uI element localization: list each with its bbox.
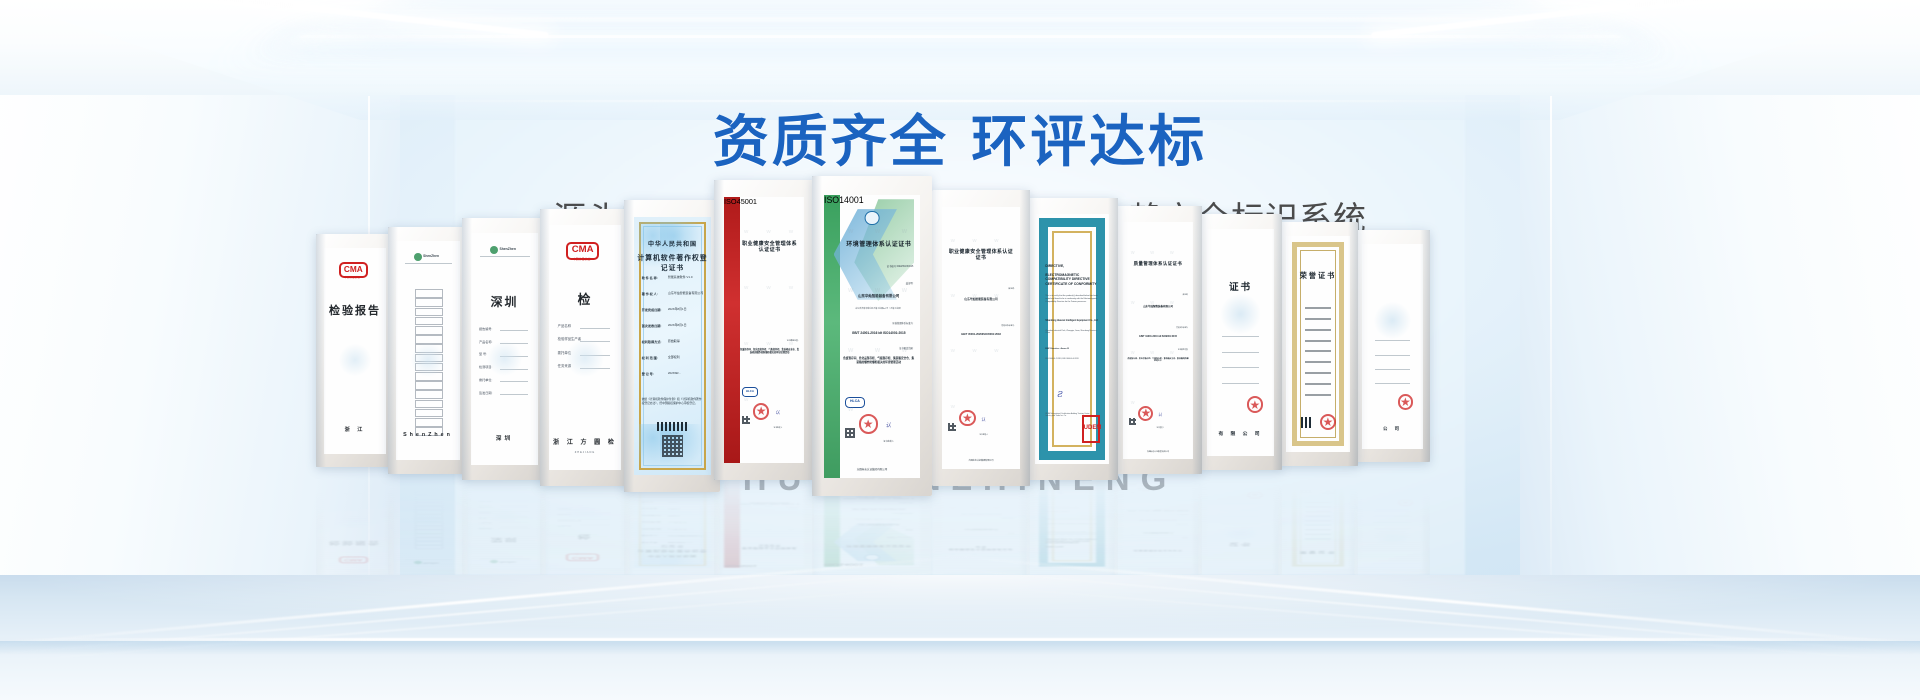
certificate-frame[interactable]: DIRECTIVE,ELECTROMAGNETIC COMPATIBILITY … — [1026, 198, 1118, 480]
official-red-stamp-icon — [753, 403, 770, 420]
company-label: 兹证明: — [906, 529, 914, 531]
software-certificate-body: 中华人民共和国计算机软件著作权登记证书软 件 名 称:智能系统软件 V1.0著 … — [634, 217, 711, 475]
frame-depth-shadow — [316, 477, 326, 575]
certificate-paper: ShenZhen深圳报告编号:产品名称:型 号:检测项目:委托单位:签发日期:深… — [471, 233, 538, 465]
standard-label: 环境管理体系标准为: — [893, 321, 914, 325]
text-line — [1305, 507, 1331, 508]
paper-watermark: W — [744, 229, 748, 234]
scope-text: 危废暂存间、危化品暂存柜、气瓶暂存柜、集装箱安全仓、集装箱的防爆柜的生产 — [1127, 358, 1189, 364]
standards-list: EN 61000-6-2:2019, EN 61000-6-4:2019 — [1045, 358, 1100, 360]
certificate-frame[interactable]: ISO45001职业健康安全管理体系认证证书证书覆盖范围:危废暂存间、危化品暂存… — [714, 180, 814, 480]
paper-watermark: W — [1131, 250, 1135, 255]
field-label: 权 利 范 围: — [642, 355, 658, 360]
paper-watermark: W — [972, 348, 976, 353]
field-label: 产品名称 — [558, 323, 571, 328]
paper-watermark: W — [902, 229, 907, 235]
issuer-logo-icon: HLCA — [742, 484, 759, 488]
company-label: 兹证明: — [1008, 287, 1014, 290]
certificate-frame[interactable]: 证书有 限 公 司 — [1198, 214, 1282, 470]
paper-watermark: W — [1131, 512, 1135, 514]
field-label: 产品名称: — [479, 339, 492, 344]
cma-badge-icon: CMA — [339, 556, 368, 563]
certificate-paper: 公 司 — [1362, 244, 1423, 449]
certificate-title-line2: 计算机软件著作权登记证书 — [634, 545, 711, 553]
company-name: 公 司 — [1362, 426, 1423, 432]
paper-watermark — [1219, 524, 1262, 542]
paper-watermark: W — [789, 341, 793, 346]
standard-label: 管理体系标准为: — [1176, 327, 1188, 329]
field-underline — [500, 381, 528, 382]
paper-watermark — [410, 342, 446, 378]
frame-depth-shadow — [1020, 190, 1030, 486]
certificate-title-line: DIRECTIVE, — [1045, 546, 1100, 548]
certificate-mat: 证书有 限 公 司 — [1207, 229, 1274, 456]
text-line — [1305, 502, 1331, 503]
certificate-frame[interactable]: 荣誉证书 — [1278, 222, 1358, 466]
company-name: 山东华灿智能装备有限公司 — [947, 528, 1016, 530]
certificate-number: 证书编号:00EMS0230915 — [887, 536, 913, 538]
certificate-paper: CMA中国计量认证检产品名称检验样品生产者委托单位任务来源浙 江 方 圆 检ZH… — [549, 225, 621, 470]
certificate-mat: 质量管理体系认证证书兹证明:山东华灿智能装备有限公司管理体系标准为:GB/T 1… — [1123, 222, 1193, 459]
issuing-organization-en: ZHEJIANG — [549, 451, 621, 454]
paper-watermark: W — [744, 482, 748, 484]
company-address: 山东省济南市章丘区刁镇工业园A-1号（刁镇工业园） — [843, 307, 914, 310]
paper-watermark: W — [875, 525, 880, 528]
scope-label: 证书覆盖范围: — [1178, 514, 1188, 515]
certificate-title-line: ELECTROMAGNETIC COMPATIBILITY DIRECTIVE — [1045, 273, 1100, 281]
field-label: 签发日期: — [479, 390, 492, 395]
certificate-body: This is to certify that the product(s) d… — [1045, 531, 1100, 535]
paper-watermark: W — [1150, 512, 1154, 514]
field-underline — [500, 394, 528, 395]
directive-name: EMC Directive : Annex III — [1045, 348, 1100, 350]
certificate-title: 深圳 — [471, 536, 538, 543]
field-underline — [1222, 352, 1260, 353]
paper-watermark: W — [994, 348, 998, 353]
paper-watermark: W — [744, 397, 748, 402]
field-label: 权 利 范 围: — [642, 508, 658, 510]
frame-depth-shadow — [714, 180, 724, 480]
certificate-frame[interactable]: ShenZhen深圳报告编号:产品名称:型 号:检测项目:委托单位:签发日期:深… — [462, 218, 546, 480]
paper-watermark: W — [848, 525, 853, 528]
paper-watermark: W — [848, 348, 853, 354]
certificate-sidebar-label: ISO45001 — [724, 564, 740, 568]
certificate-mat: CMA中国计量认证检产品名称检验样品生产者委托单位任务来源浙 江 方 圆 检ZH… — [549, 225, 621, 470]
signature-icon: 认 — [1158, 486, 1162, 489]
table-cell — [415, 491, 443, 495]
official-red-stamp-icon — [1247, 491, 1264, 498]
paper-watermark: W — [875, 348, 880, 354]
certificate-mat: DIRECTIVE,ELECTROMAGNETIC COMPATIBILITY … — [1035, 214, 1109, 464]
signature-label: 证书签发人 — [979, 434, 987, 436]
table-cell — [415, 326, 443, 335]
scope-text: 危废暂存间、危化品暂存柜、气瓶暂存柜、集装箱安全仓、集装箱的爆炸的防爆柜相关的环… — [740, 349, 799, 355]
cma-badge-icon: CMA — [566, 554, 599, 561]
standard-name: GB/T 45001-2020/ISO45001:2018 — [947, 514, 1016, 515]
certificate-mat: ShenZhen深圳报告编号:产品名称:型 号:检测项目:委托单位:签发日期:深… — [471, 471, 538, 568]
field-value: 原始取得 — [668, 515, 680, 517]
certificate-title-line: CERTIFICATE OF CONFORMITY — [1045, 538, 1100, 540]
frame-depth-shadow — [388, 471, 398, 575]
text-line — [1305, 394, 1331, 396]
table-cell — [415, 522, 443, 526]
standard-label: 管理体系标准为: — [1176, 523, 1188, 524]
certificate-frame[interactable]: CMA中国计量认证检产品名称检验样品生产者委托单位任务来源浙 江 方 圆 检ZH… — [540, 209, 630, 486]
field-value: 智能系统软件 V1.0 — [668, 275, 693, 279]
official-red-stamp-icon — [1320, 487, 1336, 494]
divider — [405, 263, 452, 264]
certificate-paper: CMA中国计量认证检验报告浙 江 — [324, 248, 386, 454]
field-label: 报告编号: — [479, 528, 492, 530]
certificate-title-line: ELECTROMAGNETIC COMPATIBILITY DIRECTIVE — [1045, 540, 1100, 543]
certificate-frame-reflection: ShenZhenShenZhen — [388, 471, 468, 575]
certificate-frame[interactable]: ISO14001环境管理体系认证证书证书编号:00EMS0230915兹证明:山… — [812, 176, 932, 496]
certificate-paper: ShenZhen深圳报告编号:产品名称:型 号:检测项目:委托单位:签发日期:深… — [471, 471, 538, 568]
paper-watermark: W — [848, 500, 853, 503]
text-line — [1305, 520, 1331, 521]
certificate-title: 环境管理体系认证证书 — [843, 544, 914, 547]
certificate-frame[interactable]: 质量管理体系认证证书兹证明:山东华灿智能装备有限公司管理体系标准为:GB/T 1… — [1114, 206, 1202, 474]
certificate-title-line: CERTIFICATE OF CONFORMITY — [1045, 282, 1100, 286]
certificate-paper: ShenZhenShenZhen — [396, 241, 460, 460]
issuing-organization: 深圳 — [471, 434, 538, 442]
certificate-paper: 荣誉证书 — [1286, 236, 1350, 452]
certificate-frame[interactable]: 中华人民共和国计算机软件著作权登记证书软 件 名 称:智能系统软件 V1.0著 … — [624, 200, 720, 492]
cma-badge-sublabel: 中国计量认证 — [563, 553, 600, 555]
paper-watermark: W — [1131, 554, 1135, 556]
certificate-body: This is to certify that the product(s) d… — [1045, 295, 1100, 303]
field-value: 山东华灿智能装备有限公司 — [668, 535, 703, 537]
signature-label: 证书签发人 — [1157, 481, 1165, 482]
paper-watermark: W — [951, 404, 955, 409]
field-underline — [580, 328, 610, 329]
udem-logo-icon: UDEM — [1082, 415, 1100, 443]
field-value: 山东华灿智能装备有限公司 — [668, 291, 703, 295]
field-label: 登 记 号: — [642, 501, 654, 503]
company-name: 有 限 公 司 — [1207, 430, 1274, 437]
paper-watermark: W — [902, 500, 907, 503]
paper-watermark: W — [1170, 533, 1174, 535]
table-cell — [415, 507, 443, 511]
company-address: Zhendian Industrial Park, Zhangqiu, Jina… — [1045, 330, 1100, 335]
paper-watermark: W — [1131, 400, 1135, 405]
table-cell — [415, 409, 443, 418]
certificate-sidebar-label: ISO45001 — [724, 197, 740, 206]
certificate-sidebar: ISO14001 — [824, 195, 840, 478]
paper-watermark — [1373, 529, 1412, 545]
paper-watermark: W — [994, 553, 998, 555]
paper-watermark: W — [1170, 350, 1174, 355]
paper-watermark: W — [766, 341, 770, 346]
field-label: 著 作 权 人: — [642, 291, 658, 296]
table-cell — [415, 518, 443, 522]
text-line — [1305, 318, 1331, 320]
org-seal-icon — [414, 253, 422, 261]
issuing-organization: 方圆标志认证集团有限公司 — [824, 467, 920, 471]
scope-label: 证书覆盖范围: — [899, 502, 913, 504]
certificate-paper: 证书有 限 公 司 — [1207, 473, 1274, 568]
certificate-mat: ShenZhenShenZhen — [396, 477, 460, 569]
certificate-title: 职业健康安全管理体系认证证书 — [947, 545, 1016, 550]
paper-watermark — [486, 508, 524, 524]
frame-depth-shadow — [1108, 198, 1118, 480]
table-cell — [415, 511, 443, 515]
floor-reflection-band — [0, 641, 1920, 655]
org-name-en: ShenZhen — [423, 254, 439, 258]
table-cell — [415, 289, 443, 298]
official-red-stamp-icon — [1398, 394, 1414, 410]
frame-bevel — [1278, 473, 1358, 575]
signature-label: 证书签发人 — [774, 427, 783, 429]
field-label: 权利取得方式: — [642, 339, 662, 344]
certificate-title: 荣誉证书 — [1286, 271, 1350, 281]
scope-text: 危废暂存间、危化品暂存柜、气瓶暂存柜、集装箱安全仓、集装箱的爆炸的防爆柜相关的环… — [740, 501, 799, 504]
paper-watermark: W — [951, 529, 955, 531]
chevron-art-blue — [834, 523, 897, 561]
field-label: 报告编号: — [479, 326, 492, 331]
paper-watermark — [486, 340, 524, 378]
company-name: 山东华灿智能装备有限公司 — [843, 524, 914, 526]
issuing-organization: ShenZhen — [396, 486, 460, 489]
table-cell — [415, 308, 443, 317]
field-label: 软 件 名 称: — [642, 275, 658, 280]
paper-watermark: W — [972, 529, 976, 531]
official-red-stamp-icon — [1398, 499, 1414, 506]
certificate-frame-reflection: 荣誉证书 — [1278, 473, 1358, 575]
certificate-title: 职业健康安全管理体系认证证书 — [947, 250, 1016, 262]
certificate-number: 证书编号:00EMS0230915 — [887, 264, 913, 268]
directive-name: EMC Directive : Annex III — [1045, 511, 1100, 512]
paper-watermark: W — [1170, 554, 1174, 556]
field-label: 检测项目: — [479, 512, 492, 514]
company-name: 山东华灿智能装备有限公司 — [1127, 304, 1189, 308]
field-underline — [1375, 369, 1409, 370]
certificate-title-line2: 计算机软件著作权登记证书 — [634, 252, 711, 272]
barcode-icon — [1301, 417, 1313, 428]
paper-watermark: W — [902, 288, 907, 294]
issuer-logo-icon: HLCA — [742, 387, 759, 396]
certificate-title: 环境管理体系认证证书 — [843, 242, 914, 250]
paper-watermark: W — [848, 407, 853, 413]
paper-watermark: W — [1150, 300, 1154, 305]
paper-watermark — [338, 515, 373, 530]
certificate-paper: CMA中国计量认证检验报告浙 江 — [324, 483, 386, 570]
qr-code-icon — [845, 428, 855, 438]
certificate-paper: 公 司 — [1362, 483, 1423, 569]
frame-depth-shadow — [1420, 478, 1430, 575]
paper-watermark: W — [994, 293, 998, 298]
paper-watermark: W — [1131, 300, 1135, 305]
field-label: 委托单位: — [479, 506, 492, 508]
standard-name: GB/T 19001-2016 idt ISO9001:2015 — [1127, 336, 1189, 338]
paper-watermark: W — [789, 285, 793, 290]
standard-label: 环境管理体系标准为: — [893, 512, 914, 514]
table-cell — [415, 499, 443, 503]
certificate-mat: CMA中国计量认证检验报告浙 江 — [324, 248, 386, 454]
text-line — [1305, 529, 1331, 530]
certificate-sidebar: ISO45001 — [724, 197, 740, 463]
barcode-icon — [1301, 488, 1313, 493]
frame-bevel — [388, 471, 468, 575]
paper-watermark: W — [1150, 350, 1154, 355]
paper-watermark: W — [744, 505, 748, 507]
paper-watermark: W — [789, 552, 793, 554]
certificate-title: 检 — [549, 289, 621, 308]
certificate-frame-reflection: ShenZhen深圳报告编号:产品名称:型 号:检测项目:委托单位:签发日期:深… — [462, 465, 546, 575]
table-cell — [415, 530, 443, 534]
certificate-mat: 中华人民共和国计算机软件著作权登记证书软 件 名 称:智能系统软件 V1.0著 … — [634, 217, 711, 475]
field-label: 软 件 名 称: — [642, 541, 658, 543]
paper-watermark — [565, 338, 605, 378]
text-line — [1305, 511, 1331, 512]
text-line — [1305, 361, 1331, 363]
field-value: 2023年8月1日 — [668, 323, 687, 327]
frame-depth-shadow — [1348, 222, 1358, 466]
paper-watermark: W — [951, 348, 955, 353]
standard-label: 管理体系标准为: — [1001, 324, 1014, 327]
issuing-organization: 深圳 — [471, 481, 538, 484]
paper-watermark: W — [875, 229, 880, 235]
frame-bevel — [1114, 462, 1202, 575]
certificate-frame[interactable]: 职业健康安全管理体系认证证书兹证明:山东华灿智能装备有限公司管理体系标准为:GB… — [932, 190, 1030, 486]
text-line — [1305, 383, 1331, 385]
certificate-mat: 公 司 — [1362, 244, 1423, 449]
certificate-footer-note: 依据《计算机软件保护条例》和《计算机软件著作权登记办法》，经中国版权保护中心审核… — [642, 398, 704, 406]
certificate-mat: 证书有 限 公 司 — [1207, 473, 1274, 568]
certificate-paper: 质量管理体系认证证书兹证明:山东华灿智能装备有限公司管理体系标准为:GB/T 1… — [1123, 222, 1193, 459]
certificate-title-line: DIRECTIVE, — [1045, 264, 1100, 268]
certificate-mat: ISO14001环境管理体系认证证书证书编号:00EMS0230915兹证明:山… — [824, 195, 920, 478]
org-seal-icon — [490, 560, 498, 563]
paper-watermark: W — [789, 229, 793, 234]
table-cell — [415, 487, 443, 491]
chevron-art-green — [839, 522, 914, 565]
text-line — [1305, 340, 1331, 342]
field-underline — [1375, 355, 1409, 356]
signature-icon: 认 — [775, 410, 780, 416]
certificate-mat: 公 司 — [1362, 483, 1423, 569]
frame-bevel — [1198, 467, 1282, 575]
certificate-frame[interactable]: ShenZhenShenZhen — [388, 227, 468, 474]
paper-watermark: W — [875, 500, 880, 503]
paper-watermark: W — [744, 341, 748, 346]
paper-watermark: W — [789, 529, 793, 531]
cma-badge-sublabel: 中国计量认证 — [336, 556, 368, 558]
field-underline — [1375, 340, 1409, 341]
paper-watermark: W — [744, 552, 748, 554]
certificate-frame-reflection: 质量管理体系认证证书兹证明:山东华灿智能装备有限公司管理体系标准为:GB/T 1… — [1114, 462, 1202, 575]
scope-text: 危废暂存间、危化品暂存柜、气瓶暂存柜、集装箱安全仓、集装箱的爆炸防爆柜相关的环境… — [843, 496, 914, 499]
certificate-frame-reflection: 公 司 — [1354, 478, 1430, 575]
paper-watermark: W — [744, 529, 748, 531]
table-cell — [415, 541, 443, 545]
paper-watermark: W — [972, 238, 976, 243]
certificate-gold-border — [1292, 481, 1344, 567]
accreditation-seal-icon — [865, 211, 880, 226]
paper-watermark: W — [848, 288, 853, 294]
certificate-paper: DIRECTIVE,ELECTROMAGNETIC COMPATIBILITY … — [1035, 214, 1109, 464]
org-name-en: ShenZhen — [423, 562, 439, 564]
table-cell — [415, 526, 443, 530]
certificate-title: 证书 — [1207, 542, 1274, 548]
text-line — [1305, 329, 1331, 331]
paper-watermark: W — [1150, 554, 1154, 556]
certificate-paper: 职业健康安全管理体系认证证书兹证明:山东华灿智能装备有限公司管理体系标准为:GB… — [942, 207, 1020, 469]
certificate-frame[interactable]: CMA中国计量认证检验报告浙 江 — [316, 234, 394, 467]
frame-depth-shadow — [540, 209, 550, 486]
org-seal-icon — [414, 561, 422, 564]
standard-name: GB/T 24001-2016 idt ISO14001:2015 — [843, 331, 914, 335]
field-value: 原始取得 — [668, 339, 680, 343]
corner-ornament-icon — [660, 547, 706, 566]
signature-icon: Ƨ — [1057, 490, 1063, 494]
certificate-title: 职业健康安全管理体系认证证书 — [740, 241, 799, 254]
frame-depth-shadow — [462, 218, 472, 480]
frame-depth-shadow — [1272, 467, 1282, 575]
certificate-mat: ShenZhenShenZhen — [396, 241, 460, 460]
accreditation-seal-icon — [865, 554, 880, 560]
frame-depth-shadow — [1192, 462, 1202, 575]
paper-watermark — [1373, 301, 1412, 340]
table-cell — [415, 418, 443, 427]
divider — [480, 256, 530, 257]
table-cell — [415, 495, 443, 499]
paper-watermark: W — [1131, 533, 1135, 535]
paper-watermark: W — [1170, 300, 1174, 305]
field-value: 智能系统软件 V1.0 — [668, 542, 693, 544]
frame-depth-shadow — [462, 465, 472, 575]
signature-icon: 认 — [981, 417, 986, 423]
field-underline — [1222, 336, 1260, 337]
table-cell — [415, 534, 443, 538]
field-label: 开发完成日期: — [642, 528, 662, 530]
company-address: 山东省济南市章丘区刁镇工业园A-1号（刁镇工业园） — [843, 519, 914, 520]
field-label: 著 作 权 人: — [642, 535, 658, 537]
company-label: 兹证明: — [1008, 533, 1014, 534]
paper-watermark — [410, 512, 446, 527]
table-cell — [415, 381, 443, 390]
field-label: 检验样品生产者 — [558, 519, 582, 521]
field-value: 2023年8月1日 — [668, 522, 687, 524]
official-red-stamp-icon — [1138, 406, 1153, 421]
table-cell — [415, 317, 443, 326]
corner-ornament-icon — [639, 547, 685, 566]
field-label: 委托单位: — [479, 377, 492, 382]
field-label: 权利取得方式: — [642, 515, 662, 517]
certificate-sidebar-label: ISO14001 — [824, 195, 840, 205]
text-line — [1305, 350, 1331, 352]
frame-depth-shadow — [624, 200, 634, 492]
field-underline — [1222, 383, 1260, 384]
certificate-frame[interactable]: 公 司 — [1354, 230, 1430, 462]
cma-badge-sublabel: 中国计量认证 — [563, 257, 600, 261]
signature-label: 证书签发人 — [1157, 427, 1165, 429]
company-name: 有 限 公 司 — [1207, 481, 1274, 484]
field-value: 2023年8月1日 — [668, 528, 687, 530]
text-line — [1305, 525, 1331, 526]
table-cell — [415, 545, 443, 549]
frame-bevel — [1354, 478, 1430, 575]
certificate-paper: ISO45001职业健康安全管理体系认证证书证书覆盖范围:危废暂存间、危化品暂存… — [724, 197, 804, 463]
issuing-organization: 浙 江 方 圆 检 — [549, 437, 621, 446]
certificate-mat: CMA中国计量认证检验报告浙 江 — [324, 483, 386, 570]
scope-text: 危废暂存间、危化品暂存柜、气瓶暂存柜、集装箱安全仓、集装箱的爆炸防爆柜相关的环境… — [843, 357, 914, 365]
standards-list: EN 61000-6-2:2019, EN 61000-6-4:2019 — [1045, 507, 1100, 508]
scope-text: 危废暂存间、危化品暂存柜、气瓶暂存柜、集装箱安全仓、集装箱的防爆柜的生产 — [1127, 509, 1189, 511]
paper-watermark: W — [1150, 250, 1154, 255]
frame-depth-shadow — [812, 176, 822, 496]
issuing-organization: UDEM International Certification Auditin… — [1045, 483, 1089, 485]
